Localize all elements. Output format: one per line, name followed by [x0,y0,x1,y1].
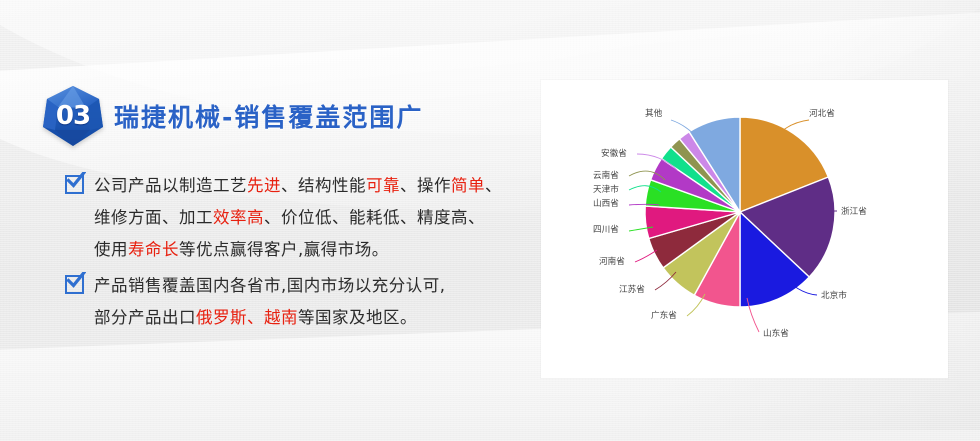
slide-canvas: 03 瑞捷机械-销售覆盖范围广 公司产品以制造工艺先进、结构性能可靠、操作简单、… [0,0,980,441]
pie-slice-label: 安徽省 [601,147,627,159]
pie-slice-label: 山西省 [593,197,619,209]
bullet-text: 产品销售覆盖国内各省市,国内市场以充分认可,部分产品出口俄罗斯、越南等国家及地区… [94,270,446,334]
pie-slice-label: 河南省 [599,255,625,267]
feature-bullet: 产品销售覆盖国内各省市,国内市场以充分认可,部分产品出口俄罗斯、越南等国家及地区… [64,270,534,334]
hexagon-badge-icon: 03 [42,85,104,147]
body-text: 等优点赢得客户,赢得市场。 [179,240,389,259]
pie-leader-line [635,250,657,262]
bullet-line: 公司产品以制造工艺先进、结构性能可靠、操作简单、 [94,170,502,202]
checkbox-checked-icon [64,173,86,195]
body-text: 、价位低、能耗低、精度高、 [264,208,485,227]
page-title: 瑞捷机械-销售覆盖范围广 [114,98,423,134]
pie-chart-card: 河北省浙江省北京市山东省广东省江苏省河南省四川省山西省天津市云南省安徽省其他 [541,80,948,378]
body-text: 等国家及地区。 [298,308,417,327]
body-text: 、 [485,176,502,195]
badge-number: 03 [42,85,104,147]
body-text: 公司产品以制造工艺 [94,176,247,195]
body-text: 、结构性能 [281,176,366,195]
checkbox-checked-icon [64,273,86,295]
sales-coverage-pie-chart: 河北省浙江省北京市山东省广东省江苏省河南省四川省山西省天津市云南省安徽省其他 [541,80,948,378]
body-text: 使用 [94,240,128,259]
highlight-text: 俄罗斯、越南 [196,308,298,327]
bullet-line: 维修方面、加工效率高、价位低、能耗低、精度高、 [94,202,502,234]
pie-slice-label: 北京市 [821,289,847,301]
pie-slice-label: 广东省 [651,309,677,321]
feature-bullet-list: 公司产品以制造工艺先进、结构性能可靠、操作简单、维修方面、加工效率高、价位低、能… [64,170,534,338]
pie-slice-label: 山东省 [763,327,789,339]
bullet-line: 产品销售覆盖国内各省市,国内市场以充分认可, [94,270,446,302]
pie-slice-label: 云南省 [593,169,619,181]
section-heading: 03 瑞捷机械-销售覆盖范围广 [42,85,423,147]
pie-slice-label: 浙江省 [841,205,867,217]
pie-leader-line [629,204,659,205]
bullet-line: 部分产品出口俄罗斯、越南等国家及地区。 [94,302,446,334]
body-text: 维修方面、加工 [94,208,213,227]
highlight-text: 寿命长 [128,240,179,259]
body-text: 部分产品出口 [94,308,196,327]
highlight-text: 效率高 [213,208,264,227]
bullet-text: 公司产品以制造工艺先进、结构性能可靠、操作简单、维修方面、加工效率高、价位低、能… [94,170,502,266]
body-text: 、操作 [400,176,451,195]
highlight-text: 可靠 [366,176,400,195]
pie-slice-label: 其他 [645,107,663,119]
feature-bullet: 公司产品以制造工艺先进、结构性能可靠、操作简单、维修方面、加工效率高、价位低、能… [64,170,534,266]
highlight-text: 简单 [451,176,485,195]
pie-slice-label: 河北省 [809,107,835,119]
body-text: 产品销售覆盖国内各省市,国内市场以充分认可, [94,276,446,295]
pie-slice-label: 江苏省 [619,283,645,295]
bullet-line: 使用寿命长等优点赢得客户,赢得市场。 [94,234,502,266]
highlight-text: 先进 [247,176,281,195]
pie-slice-label: 天津市 [593,183,619,195]
pie-slice-label: 四川省 [593,223,619,235]
